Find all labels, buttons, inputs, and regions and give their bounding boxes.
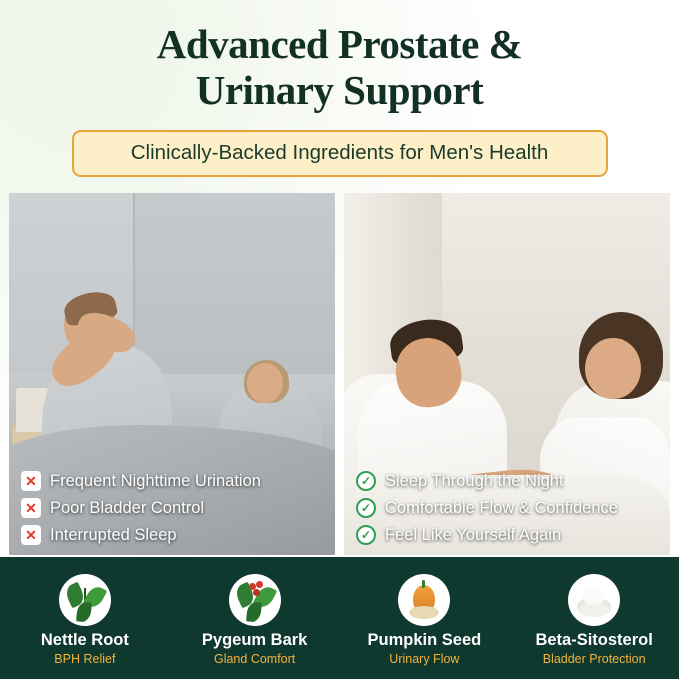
photo-partner-head [247, 363, 283, 403]
cross-icon: ✕ [21, 471, 41, 491]
ingredient-name: Nettle Root [0, 631, 170, 649]
list-item: ✕ Interrupted Sleep [21, 525, 261, 545]
list-item: ✕ Frequent Nighttime Urination [21, 471, 261, 491]
check-icon: ✓ [356, 525, 376, 545]
check-icon: ✓ [356, 498, 376, 518]
benefit-list: ✓ Sleep Through the Night ✓ Comfortable … [356, 471, 618, 545]
subtitle-text: Clinically-Backed Ingredients for Men's … [131, 141, 549, 164]
cross-icon: ✕ [21, 498, 41, 518]
ingredient-benefit: BPH Relief [0, 652, 170, 666]
ingredient-name: Beta-Sitosterol [509, 631, 679, 649]
powder-scoop [577, 597, 611, 617]
ingredient-benefit: Bladder Protection [509, 652, 679, 666]
benefit-text: Feel Like Yourself Again [385, 526, 561, 545]
subtitle-banner: Clinically-Backed Ingredients for Men's … [72, 130, 608, 177]
ingredient-benefit: Urinary Flow [340, 652, 510, 666]
ingredient-bar: Nettle Root BPH Relief Pygeum Bark Gland… [0, 557, 679, 679]
problem-text: Poor Bladder Control [50, 499, 204, 518]
check-icon: ✓ [356, 471, 376, 491]
ingredient-name: Pygeum Bark [170, 631, 340, 649]
pygeum-berry-icon [229, 574, 281, 626]
list-item: ✓ Comfortable Flow & Confidence [356, 498, 618, 518]
cross-icon: ✕ [21, 525, 41, 545]
benefit-text: Comfortable Flow & Confidence [385, 499, 618, 518]
comparison-panels: ✕ Frequent Nighttime Urination ✕ Poor Bl… [9, 193, 670, 555]
pumpkin-seed-icon [398, 574, 450, 626]
title-line-1: Advanced Prostate & [157, 21, 523, 67]
problem-text: Interrupted Sleep [50, 526, 177, 545]
ingredient-item-nettle-root: Nettle Root BPH Relief [0, 570, 170, 665]
list-item: ✕ Poor Bladder Control [21, 498, 261, 518]
product-infographic: Advanced Prostate & Urinary Support Clin… [0, 0, 679, 679]
benefit-panel: ✓ Sleep Through the Night ✓ Comfortable … [344, 193, 670, 555]
pygeum-berry-2 [256, 581, 263, 588]
benefit-text: Sleep Through the Night [385, 472, 564, 491]
page-title: Advanced Prostate & Urinary Support [0, 0, 679, 114]
problem-list: ✕ Frequent Nighttime Urination ✕ Poor Bl… [21, 471, 261, 545]
list-item: ✓ Sleep Through the Night [356, 471, 618, 491]
photo-woman-head [585, 338, 640, 400]
ingredient-name: Pumpkin Seed [340, 631, 510, 649]
ingredient-item-pygeum-bark: Pygeum Bark Gland Comfort [170, 570, 340, 665]
ingredient-benefit: Gland Comfort [170, 652, 340, 666]
title-line-2: Urinary Support [0, 68, 679, 114]
list-item: ✓ Feel Like Yourself Again [356, 525, 618, 545]
ingredient-item-pumpkin-seed: Pumpkin Seed Urinary Flow [340, 570, 510, 665]
ingredient-item-beta-sitosterol: Beta-Sitosterol Bladder Protection [509, 570, 679, 665]
photo-wall-panel [133, 193, 335, 396]
seed-pile [409, 606, 439, 619]
problem-panel: ✕ Frequent Nighttime Urination ✕ Poor Bl… [9, 193, 335, 555]
problem-text: Frequent Nighttime Urination [50, 472, 261, 491]
beta-sitosterol-powder-icon [568, 574, 620, 626]
nettle-leaf-icon [59, 574, 111, 626]
